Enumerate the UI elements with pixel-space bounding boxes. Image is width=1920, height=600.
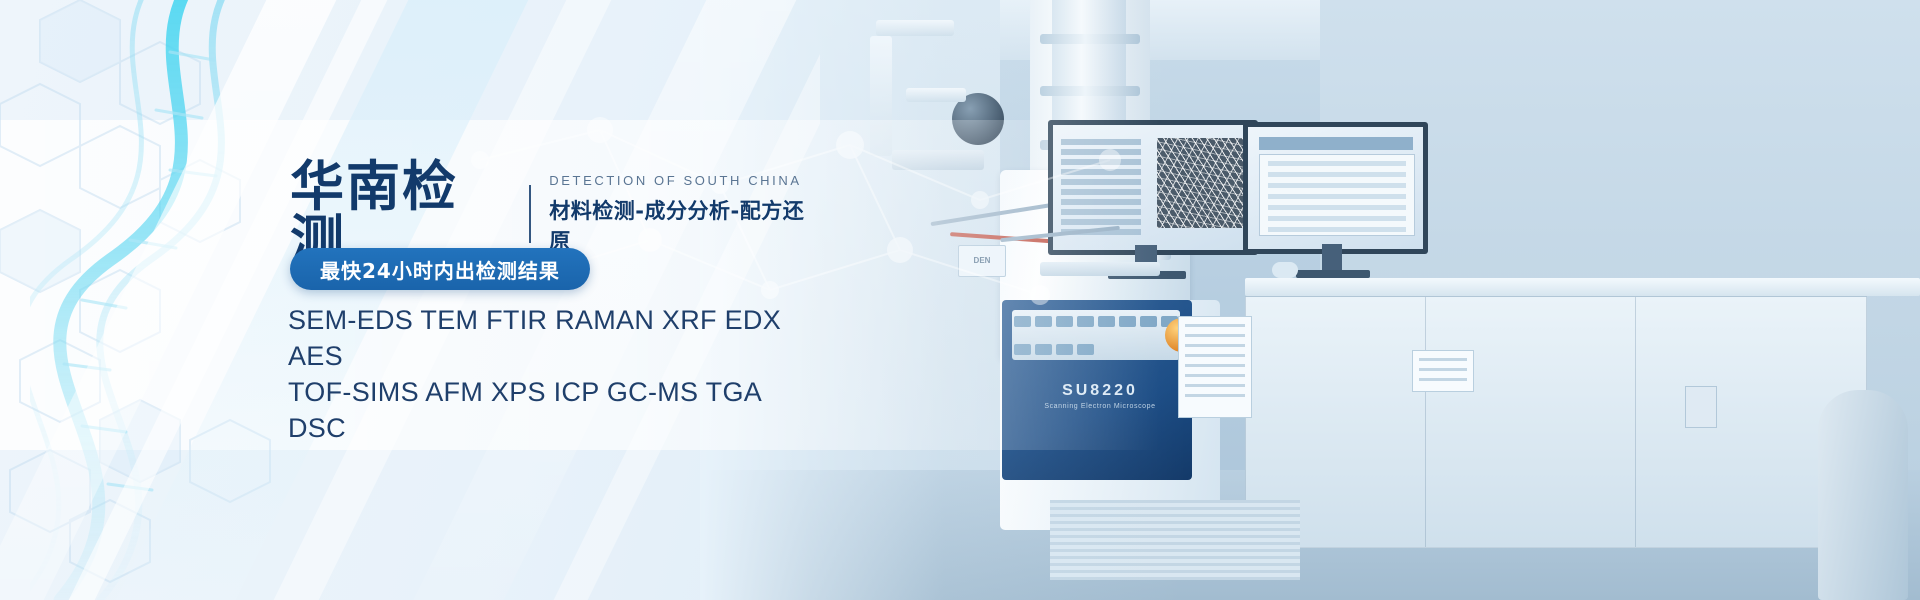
vent-grille [1050, 500, 1300, 580]
banner-content: 华南检测 DETECTION OF SOUTH CHINA 材料检测-成分分析-… [0, 0, 820, 600]
cabinet-middle [1425, 296, 1637, 548]
monitor-right[interactable] [1243, 122, 1428, 254]
brand-divider [529, 185, 531, 243]
photo-floor [700, 470, 1920, 600]
brand-tagline-cn: 材料检测-成分分析-配方还原 [549, 195, 820, 255]
cabinet-right [1635, 296, 1867, 548]
photo-wall-right [1320, 0, 1920, 600]
document-label [1412, 350, 1474, 392]
technique-line-1: SEM-EDS TEM FTIR RAMAN XRF EDX AES [288, 303, 820, 375]
technique-line-2: TOF-SIMS AFM XPS ICP GC-MS TGA DSC [288, 375, 820, 447]
marketing-banner: HITACHI SU8220 Scanning Electron Microsc… [0, 0, 1920, 600]
technique-list: SEM-EDS TEM FTIR RAMAN XRF EDX AES TOF-S… [288, 303, 820, 447]
software-window [1259, 154, 1415, 237]
sem-column-ring [1040, 34, 1140, 44]
brand-subtitle-group: DETECTION OF SOUTH CHINA 材料检测-成分分析-配方还原 [549, 173, 820, 255]
lab-bench [1245, 278, 1920, 296]
monitor-right-screen [1248, 127, 1423, 249]
cabinet-handle[interactable] [1685, 386, 1717, 428]
brand-name-en: DETECTION OF SOUTH CHINA [549, 173, 820, 188]
gas-cylinder [1818, 390, 1908, 600]
monitor-right-base [1296, 270, 1370, 278]
cabinet-left [1245, 296, 1427, 548]
sem-arm [876, 20, 954, 36]
photo-ceiling [700, 0, 1920, 60]
mouse[interactable] [1272, 262, 1298, 278]
software-title-bar [1259, 137, 1413, 150]
document-sheet [1178, 316, 1252, 418]
cta-button[interactable]: 最快24小时内出检测结果 [290, 248, 590, 290]
monitor-right-stand [1322, 244, 1342, 272]
